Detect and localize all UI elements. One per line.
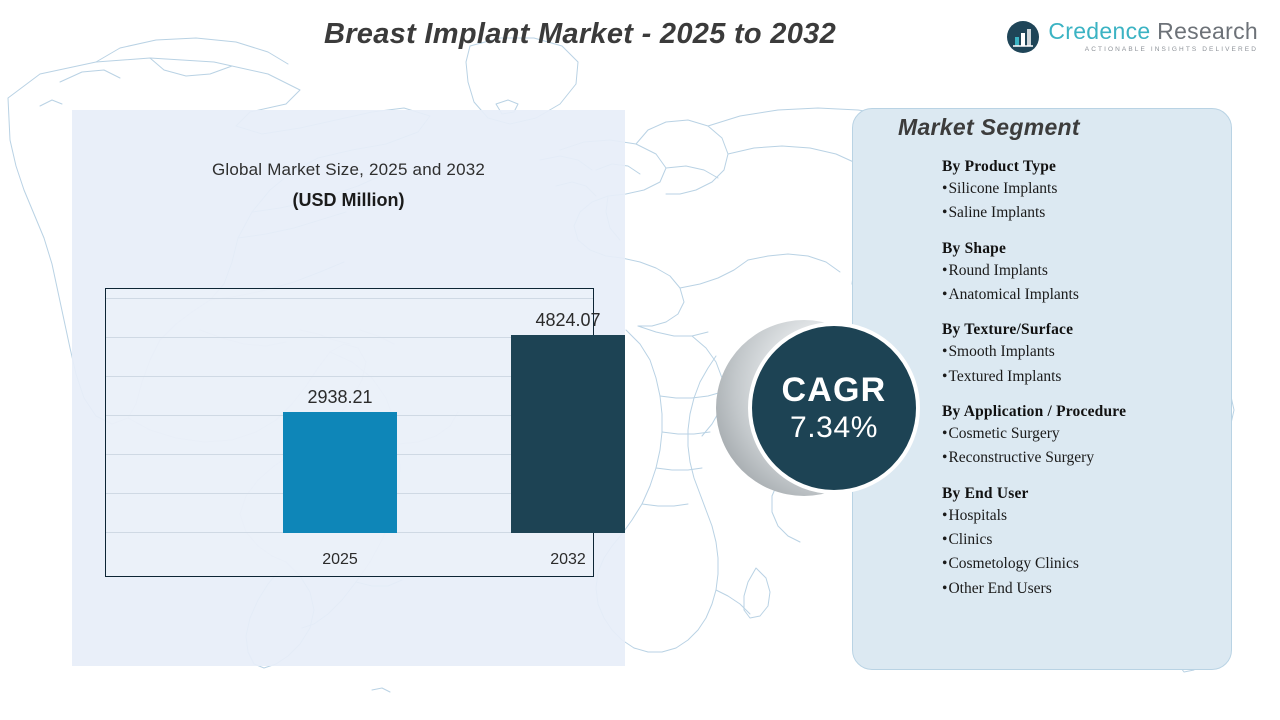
segment-group: By Application / Procedure•Cosmetic Surg… [942,403,1232,471]
segment-group: By End User•Hospitals•Clinics•Cosmetolog… [942,485,1232,601]
segment-group: By Shape•Round Implants•Anatomical Impla… [942,240,1232,308]
bullet-icon: • [942,580,947,597]
bullet-icon: • [942,531,947,548]
segment-group-item[interactable]: •Smooth Implants [942,340,1232,364]
segment-item-label: Silicone Implants [948,180,1057,197]
bullet-icon: • [942,204,947,221]
segment-item-label: Textured Implants [948,368,1061,385]
brand-name-word2: Research [1150,18,1258,44]
bar-rect [283,412,397,533]
segment-group-item[interactable]: •Clinics [942,528,1232,552]
segment-group-item[interactable]: •Cosmetology Clinics [942,552,1232,576]
brand-logo-text: Credence Research Actionable Insights De… [1048,20,1258,54]
segment-group-heading: By Product Type [942,158,1232,176]
segment-group: By Product Type•Silicone Implants•Saline… [942,158,1232,226]
market-segment-title: Market Segment [898,114,1080,141]
bar-category-label: 2025 [322,551,358,569]
infographic-canvas: Global Market Size, 2025 and 2032 (USD M… [0,0,1280,720]
segment-item-label: Reconstructive Surgery [948,449,1094,466]
bar-rect [511,335,625,533]
bullet-icon: • [942,262,947,279]
cagr-badge: CAGR 7.34% [716,320,924,496]
brand-name-word1: Credence [1048,18,1150,44]
bullet-icon: • [942,180,947,197]
brand-logo: Credence Research Actionable Insights De… [1006,20,1258,54]
bullet-icon: • [942,507,947,524]
segment-group-item[interactable]: •Silicone Implants [942,177,1232,201]
segment-group-heading: By End User [942,485,1232,503]
segment-group-heading: By Shape [942,240,1232,258]
segment-group: By Texture/Surface•Smooth Implants•Textu… [942,321,1232,389]
segment-group-item[interactable]: •Cosmetic Surgery [942,422,1232,446]
bar-2025: 2938.212025 [283,412,397,533]
segment-group-item[interactable]: •Saline Implants [942,201,1232,225]
segment-item-label: Cosmetic Surgery [948,425,1059,442]
chart-caption: Global Market Size, 2025 and 2032 [72,160,625,180]
bar-chart: 2938.2120254824.072032 [105,288,594,577]
segment-item-label: Round Implants [948,262,1047,279]
chart-caption-unit: (USD Million) [72,190,625,211]
cagr-label: CAGR [782,373,887,407]
bullet-icon: • [942,555,947,572]
segment-group-item[interactable]: •Hospitals [942,504,1232,528]
segment-group-item[interactable]: •Textured Implants [942,365,1232,389]
segment-group-heading: By Application / Procedure [942,403,1232,421]
cagr-circle: CAGR 7.34% [748,322,920,494]
chart-plot-area: 2938.2120254824.072032 [106,289,593,576]
segment-group-heading: By Texture/Surface [942,321,1232,339]
bullet-icon: • [942,425,947,442]
bullet-icon: • [942,449,947,466]
bullet-icon: • [942,368,947,385]
segment-item-label: Smooth Implants [948,343,1054,360]
segment-group-item[interactable]: •Anatomical Implants [942,283,1232,307]
segment-item-label: Cosmetology Clinics [948,555,1078,572]
bullet-icon: • [942,343,947,360]
bar-category-label: 2032 [550,551,586,569]
header: Breast Implant Market - 2025 to 2032 Cre… [0,0,1280,78]
segment-item-label: Anatomical Implants [948,286,1078,303]
market-size-panel: Global Market Size, 2025 and 2032 (USD M… [72,110,625,666]
brand-tagline: Actionable Insights Delivered [1048,47,1258,54]
segment-group-item[interactable]: •Reconstructive Surgery [942,446,1232,470]
segment-item-label: Other End Users [948,580,1051,597]
bar-chart-circle-icon [1006,20,1040,54]
bar-value-label: 4824.07 [535,310,600,331]
market-segment-groups: By Product Type•Silicone Implants•Saline… [942,158,1232,615]
cagr-value: 7.34% [790,413,878,443]
bar-2032: 4824.072032 [511,335,625,533]
bullet-icon: • [942,286,947,303]
brand-name: Credence Research [1048,20,1258,43]
segment-item-label: Hospitals [948,507,1007,524]
segment-group-item[interactable]: •Round Implants [942,259,1232,283]
bar-value-label: 2938.21 [307,387,372,408]
segment-item-label: Clinics [948,531,992,548]
segment-item-label: Saline Implants [948,204,1045,221]
page-title: Breast Implant Market - 2025 to 2032 [200,18,960,51]
segment-group-item[interactable]: •Other End Users [942,577,1232,601]
